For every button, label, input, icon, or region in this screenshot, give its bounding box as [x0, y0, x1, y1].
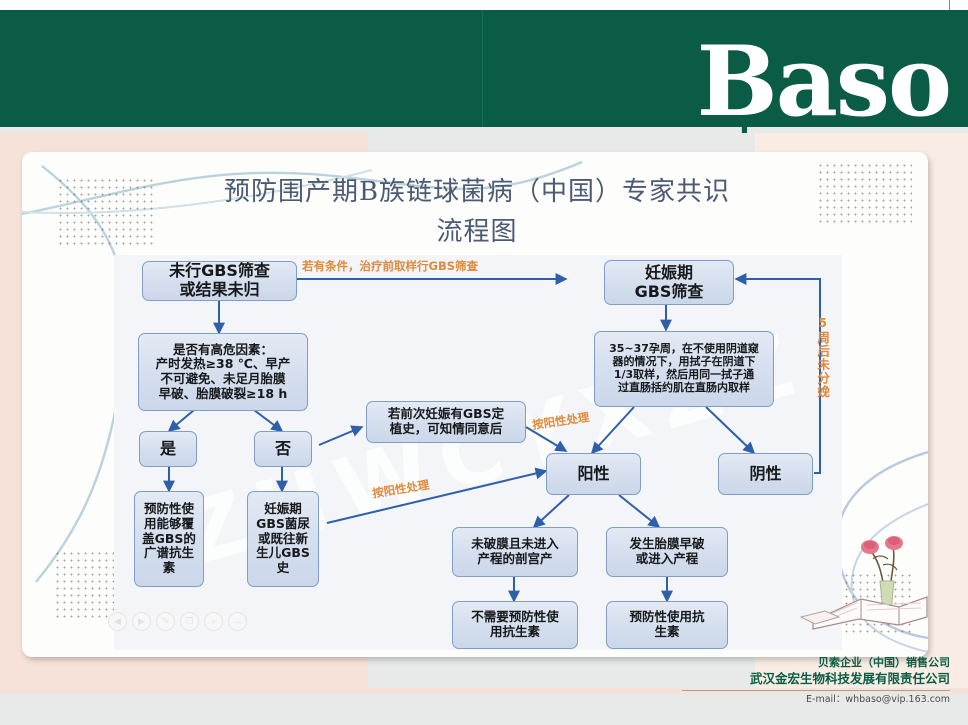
company-footer: 贝索企业（中国）销售公司 武汉金宏生物科技发展有限责任公司 E-mail：whb…	[650, 655, 950, 706]
flow-box-use-antibiotics-label: 预防性使用抗 生素	[629, 610, 704, 640]
flow-box-prior-gbs-history-label: 若前次妊娠有GBS定 植史，可知情同意后	[388, 407, 504, 437]
flow-box-gbs-bacteriuria-label: 妊娠期 GBS菌尿 或既往新 生儿GBS 史	[256, 502, 310, 576]
flow-box-positive[interactable]: 阳性	[546, 453, 641, 495]
annotation-pre-treatment-screening: 若有条件，治疗前取样行GBS筛查	[302, 258, 478, 274]
minus-glyph: —	[233, 617, 242, 627]
previous-icon[interactable]: ◀	[108, 612, 127, 631]
flow-box-positive-label: 阳性	[577, 465, 609, 484]
image-viewer-toolbar[interactable]: ◀ ▶ ✎ ❐ ⌕ —	[108, 612, 247, 631]
next-icon[interactable]: ▶	[132, 612, 151, 631]
footer-email: E-mail：whbaso@vip.163.com	[650, 693, 950, 706]
previous-glyph: ◀	[114, 616, 121, 627]
flow-box-sampling-method[interactable]: 35~37孕周，在不使用阴道窥 器的情况下，用拭子在阴道下 1/3取样，然后用同…	[594, 331, 774, 407]
edit-glyph: ✎	[162, 616, 170, 627]
slide-card: 预防围产期B族链球菌病（中国）专家共识 流程图 ZHWCYXZZ	[22, 152, 928, 657]
flow-box-no-screen-label: 未行GBS筛查 或结果未归	[169, 262, 270, 300]
flow-box-prior-gbs-history[interactable]: 若前次妊娠有GBS定 植史，可知情同意后	[366, 401, 526, 443]
flow-box-prom-or-labor-label: 发生胎膜早破 或进入产程	[629, 537, 704, 567]
next-glyph: ▶	[138, 616, 145, 627]
zoom-icon[interactable]: ⌕	[204, 612, 223, 631]
book-and-flowers-illustration	[795, 525, 928, 635]
flow-box-sampling-method-label: 35~37孕周，在不使用阴道窥 器的情况下，用拭子在阴道下 1/3取样，然后用同…	[609, 343, 759, 395]
flow-box-risk-factors[interactable]: 是否有高危因素： 产时发热≥38 ℃、早产 不可避免、未足月胎膜 早破、胎膜破裂…	[138, 333, 308, 411]
footer-company-sales: 贝索企业（中国）销售公司	[650, 655, 950, 670]
zoom-glyph: ⌕	[211, 616, 216, 627]
flow-box-no-screen[interactable]: 未行GBS筛查 或结果未归	[142, 261, 297, 301]
footer-divider	[682, 690, 950, 691]
brand-banner: Baso	[0, 10, 968, 127]
page-title: 预防围产期B族链球菌病（中国）专家共识 流程图	[112, 172, 842, 252]
banner-divider	[482, 10, 483, 127]
flow-box-prom-or-labor[interactable]: 发生胎膜早破 或进入产程	[606, 527, 728, 577]
flow-box-preg-screen[interactable]: 妊娠期 GBS筛查	[604, 260, 734, 305]
flow-box-preg-screen-label: 妊娠期 GBS筛查	[635, 264, 704, 302]
flow-box-no-antibiotics[interactable]: 不需要预防性使 用抗生素	[452, 601, 578, 649]
flow-box-cesarean[interactable]: 未破膜且未进入 产程的剖宫产	[452, 527, 578, 577]
flow-box-cesarean-label: 未破膜且未进入 产程的剖宫产	[471, 537, 559, 567]
flow-box-risk-factors-label: 是否有高危因素： 产时发热≥38 ℃、早产 不可避免、未足月胎膜 早破、胎膜破裂…	[156, 343, 291, 402]
brand-wordmark: Baso	[697, 34, 950, 127]
flow-box-yes[interactable]: 是	[139, 431, 197, 467]
flow-box-no-antibiotics-label: 不需要预防性使 用抗生素	[471, 610, 559, 640]
flow-box-negative-label: 阴性	[749, 465, 781, 484]
flow-box-broad-spectrum-abx[interactable]: 预防性使 用能够覆 盖GBS的 广谱抗生 素	[134, 491, 204, 587]
flow-box-no-label: 否	[275, 440, 291, 459]
flow-box-use-antibiotics[interactable]: 预防性使用抗 生素	[606, 601, 728, 649]
flowchart: ZHWCYXZZ	[114, 255, 842, 650]
edit-icon[interactable]: ✎	[156, 612, 175, 631]
minus-icon[interactable]: —	[228, 612, 247, 631]
page-top-margin	[0, 0, 968, 10]
flow-box-negative[interactable]: 阴性	[718, 453, 813, 495]
page-title-line-1: 预防围产期B族链球菌病（中国）专家共识	[112, 172, 842, 212]
page-title-line-2: 流程图	[112, 212, 842, 252]
copy-glyph: ❐	[185, 616, 193, 627]
flow-box-no[interactable]: 否	[254, 431, 312, 467]
copy-icon[interactable]: ❐	[180, 612, 199, 631]
footer-company-name: 武汉金宏生物科技发展有限责任公司	[650, 670, 950, 687]
flow-box-broad-spectrum-abx-label: 预防性使 用能够覆 盖GBS的 广谱抗生 素	[142, 502, 196, 576]
flow-box-gbs-bacteriuria[interactable]: 妊娠期 GBS菌尿 或既往新 生儿GBS 史	[247, 491, 319, 587]
flow-box-yes-label: 是	[160, 440, 176, 459]
annotation-five-weeks-undelivered: 5周后未分娩	[816, 315, 829, 399]
